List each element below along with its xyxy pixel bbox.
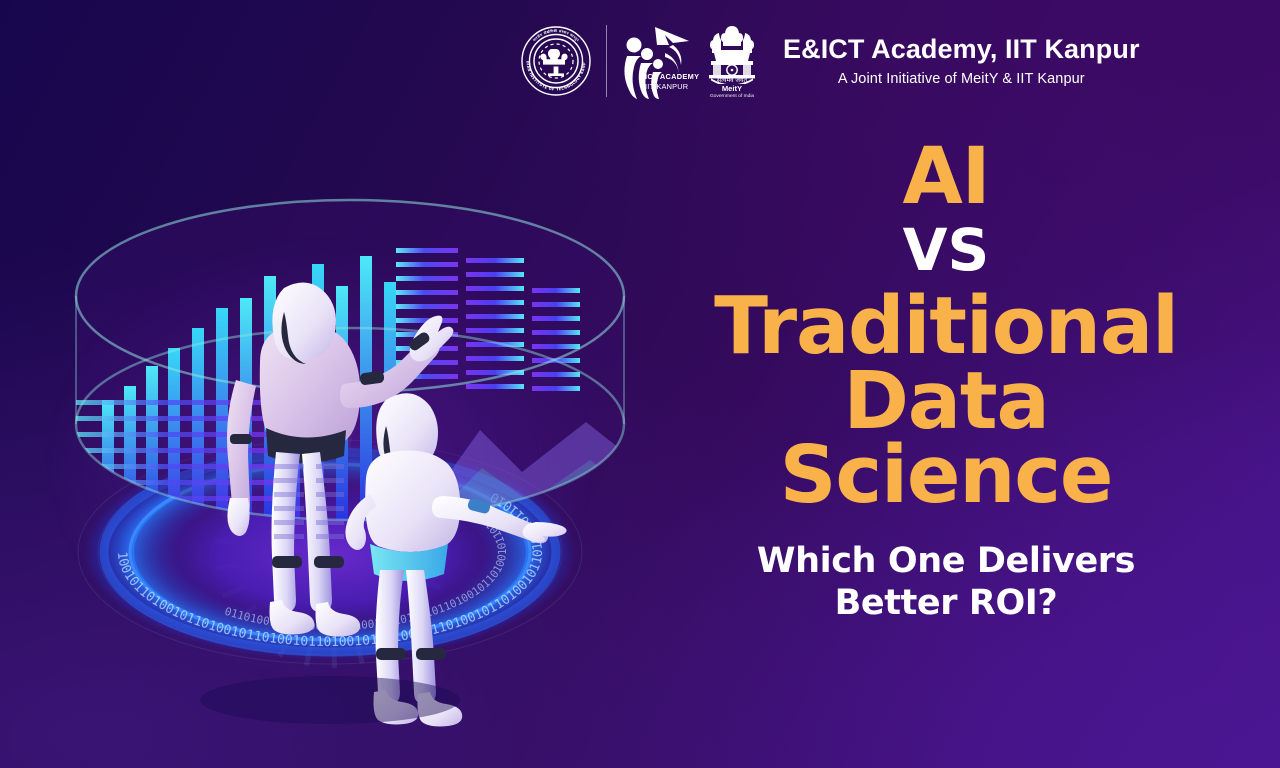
brand-header: भारतीय प्रौद्योगिकी संस्थान कानपुर INDIA…	[520, 22, 1140, 100]
hero-line-vs: VS	[686, 222, 1206, 278]
poster-canvas: 1001011010010110100101101001011010010110…	[0, 0, 1280, 768]
hero-line-science: Science	[686, 437, 1206, 514]
meity-label: सत्यमेव जयते MeitY Government of India	[701, 77, 763, 100]
logo-divider	[606, 25, 607, 97]
meity-line1: सत्यमेव जयते	[701, 77, 763, 85]
hero-subheading-line2: Better ROI?	[686, 582, 1206, 625]
hero-line-traditional: Traditional	[686, 288, 1206, 365]
ict-academy-label: ICT ACADEMY IIT KANPUR	[645, 72, 699, 91]
logo-row: भारतीय प्रौद्योगिकी संस्थान कानपुर INDIA…	[520, 22, 763, 100]
hero-line-data: Data	[686, 363, 1206, 440]
hero-copy: AI VS Traditional Data Science Which One…	[686, 140, 1206, 625]
hero-subheading: Which One Delivers Better ROI?	[686, 540, 1206, 625]
illustration-robots-data-cylinder: 1001011010010110100101101001011010010110…	[30, 100, 670, 760]
hero-line-ai: AI	[686, 140, 1206, 216]
ict-academy-line1: ICT ACADEMY	[645, 72, 699, 81]
meity-line3: Government of India	[701, 94, 763, 100]
iit-kanpur-seal-icon: भारतीय प्रौद्योगिकी संस्थान कानपुर INDIA…	[520, 25, 592, 97]
meity-emblem-icon: सत्यमेव जयते MeitY Government of India	[701, 22, 763, 100]
organization-title: E&ICT Academy, IIT Kanpur	[783, 35, 1140, 63]
ict-academy-logo-icon: ICT ACADEMY IIT KANPUR	[621, 23, 695, 99]
ict-academy-line2: IIT KANPUR	[645, 82, 688, 91]
organization-subtitle: A Joint Initiative of MeitY & IIT Kanpur	[783, 71, 1140, 87]
hero-subheading-line1: Which One Delivers	[686, 540, 1206, 583]
brand-titleblock: E&ICT Academy, IIT Kanpur A Joint Initia…	[783, 35, 1140, 86]
meity-line2: MeitY	[701, 84, 763, 93]
